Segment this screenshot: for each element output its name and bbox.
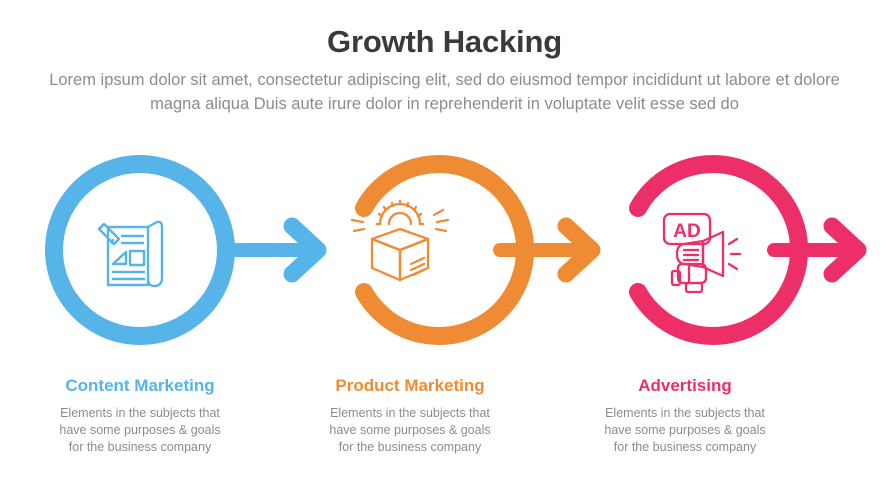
step-2-description: Elements in the subjects that have some …	[285, 405, 535, 456]
step-1-desc-line-2: have some purposes & goals	[15, 422, 265, 439]
svg-text:AD: AD	[673, 221, 700, 242]
step-1-node[interactable]	[54, 164, 226, 336]
step-2-desc-line-2: have some purposes & goals	[285, 422, 535, 439]
step-1-caption: Content Marketing Elements in the subjec…	[15, 375, 265, 456]
page-title: Growth Hacking	[0, 24, 889, 60]
arrow-step3-outward	[774, 226, 858, 274]
step-3-desc-line-3: for the business company	[560, 439, 810, 456]
infographic-canvas: Growth Hacking Lorem ipsum dolor sit ame…	[0, 0, 889, 500]
process-diagram: AD	[0, 140, 889, 365]
step-3-desc-line-1: Elements in the subjects that	[560, 405, 810, 422]
arrow-step2-to-step3	[500, 226, 592, 274]
step-2-label: Product Marketing	[285, 375, 535, 397]
step-2-caption: Product Marketing Elements in the subjec…	[285, 375, 535, 456]
document-pencil-icon	[99, 222, 162, 286]
step-2-desc-line-3: for the business company	[285, 439, 535, 456]
step-3-label: Advertising	[560, 375, 810, 397]
arrow-step1-to-step2	[226, 226, 318, 274]
step-3-description: Elements in the subjects that have some …	[560, 405, 810, 456]
ad-megaphone-icon: AD	[664, 214, 740, 292]
step-2-desc-line-1: Elements in the subjects that	[285, 405, 535, 422]
step-1-desc-line-3: for the business company	[15, 439, 265, 456]
subtitle-line-1: Lorem ipsum dolor sit amet, consectetur …	[49, 71, 771, 89]
step-1-description: Elements in the subjects that have some …	[15, 405, 265, 456]
step-1-desc-line-1: Elements in the subjects that	[15, 405, 265, 422]
step-3-caption: Advertising Elements in the subjects tha…	[560, 375, 810, 456]
step-3-desc-line-2: have some purposes & goals	[560, 422, 810, 439]
page-subtitle: Lorem ipsum dolor sit amet, consectetur …	[35, 68, 855, 116]
step-1-label: Content Marketing	[15, 375, 265, 397]
